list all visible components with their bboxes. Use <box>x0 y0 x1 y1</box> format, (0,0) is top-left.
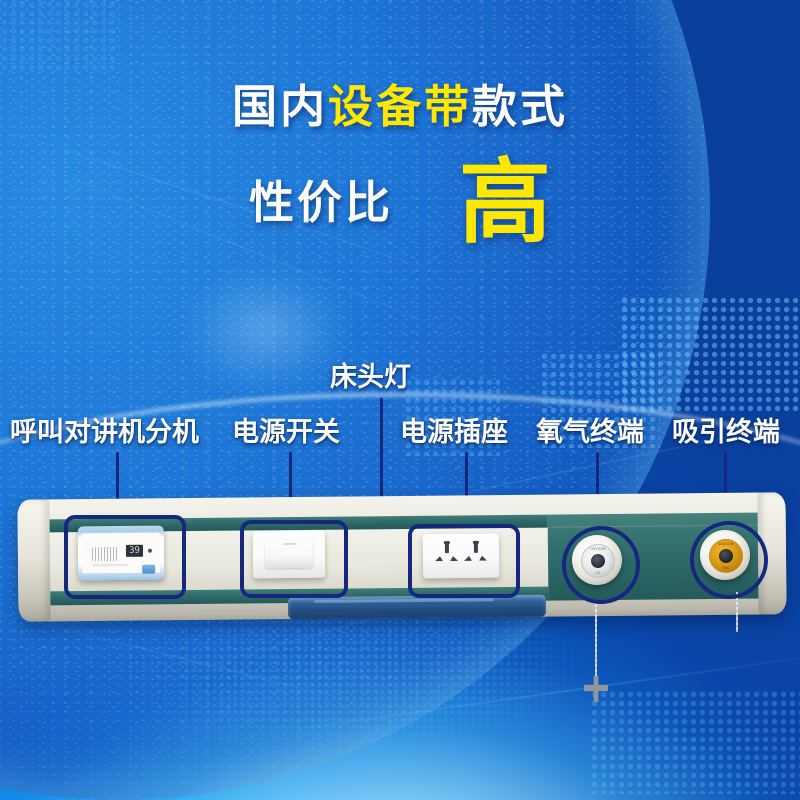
callout-label-oxygen-terminal: 氧气终端 <box>536 410 644 449</box>
headline-text-part2: 款式 <box>472 80 568 133</box>
headline-big-char: 高 <box>459 165 551 240</box>
oxygen-hose-cord <box>595 604 597 682</box>
product-banner: 国内设备带款式 性价比 高 呼叫对讲机分机 电源开关 床头灯 电源插座 氧气终端… <box>0 0 800 800</box>
callout-label-power-socket: 电源插座 <box>400 410 508 449</box>
rail-end-cap-left <box>17 499 50 621</box>
callout-label-intercom: 呼叫对讲机分机 <box>10 410 199 449</box>
halftone-dots-5 <box>0 0 120 70</box>
callout-label-suction-terminal: 吸引终端 <box>672 410 780 449</box>
halftone-dots-4 <box>590 690 800 794</box>
headline-line-1: 国内设备带款式 <box>0 84 800 129</box>
highlight-box-intercom <box>64 515 186 599</box>
callout-label-bedside-lamp: 床头灯 <box>330 355 411 394</box>
headline-text-highlight: 设备带 <box>328 80 472 133</box>
headline-subtext: 性价比 <box>249 166 393 231</box>
highlight-box-power-switch <box>240 520 348 598</box>
highlight-circle-suction-terminal <box>690 521 768 599</box>
highlight-circle-oxygen-terminal <box>562 526 640 604</box>
highlight-box-power-socket <box>408 524 520 598</box>
headline-text-part1: 国内 <box>232 80 328 133</box>
headline-line-2: 性价比 高 <box>0 161 800 236</box>
headline-block: 国内设备带款式 性价比 高 <box>0 84 800 236</box>
callout-label-power-switch: 电源开关 <box>232 410 340 449</box>
bedside-lamp-light-strip[interactable] <box>288 595 546 619</box>
